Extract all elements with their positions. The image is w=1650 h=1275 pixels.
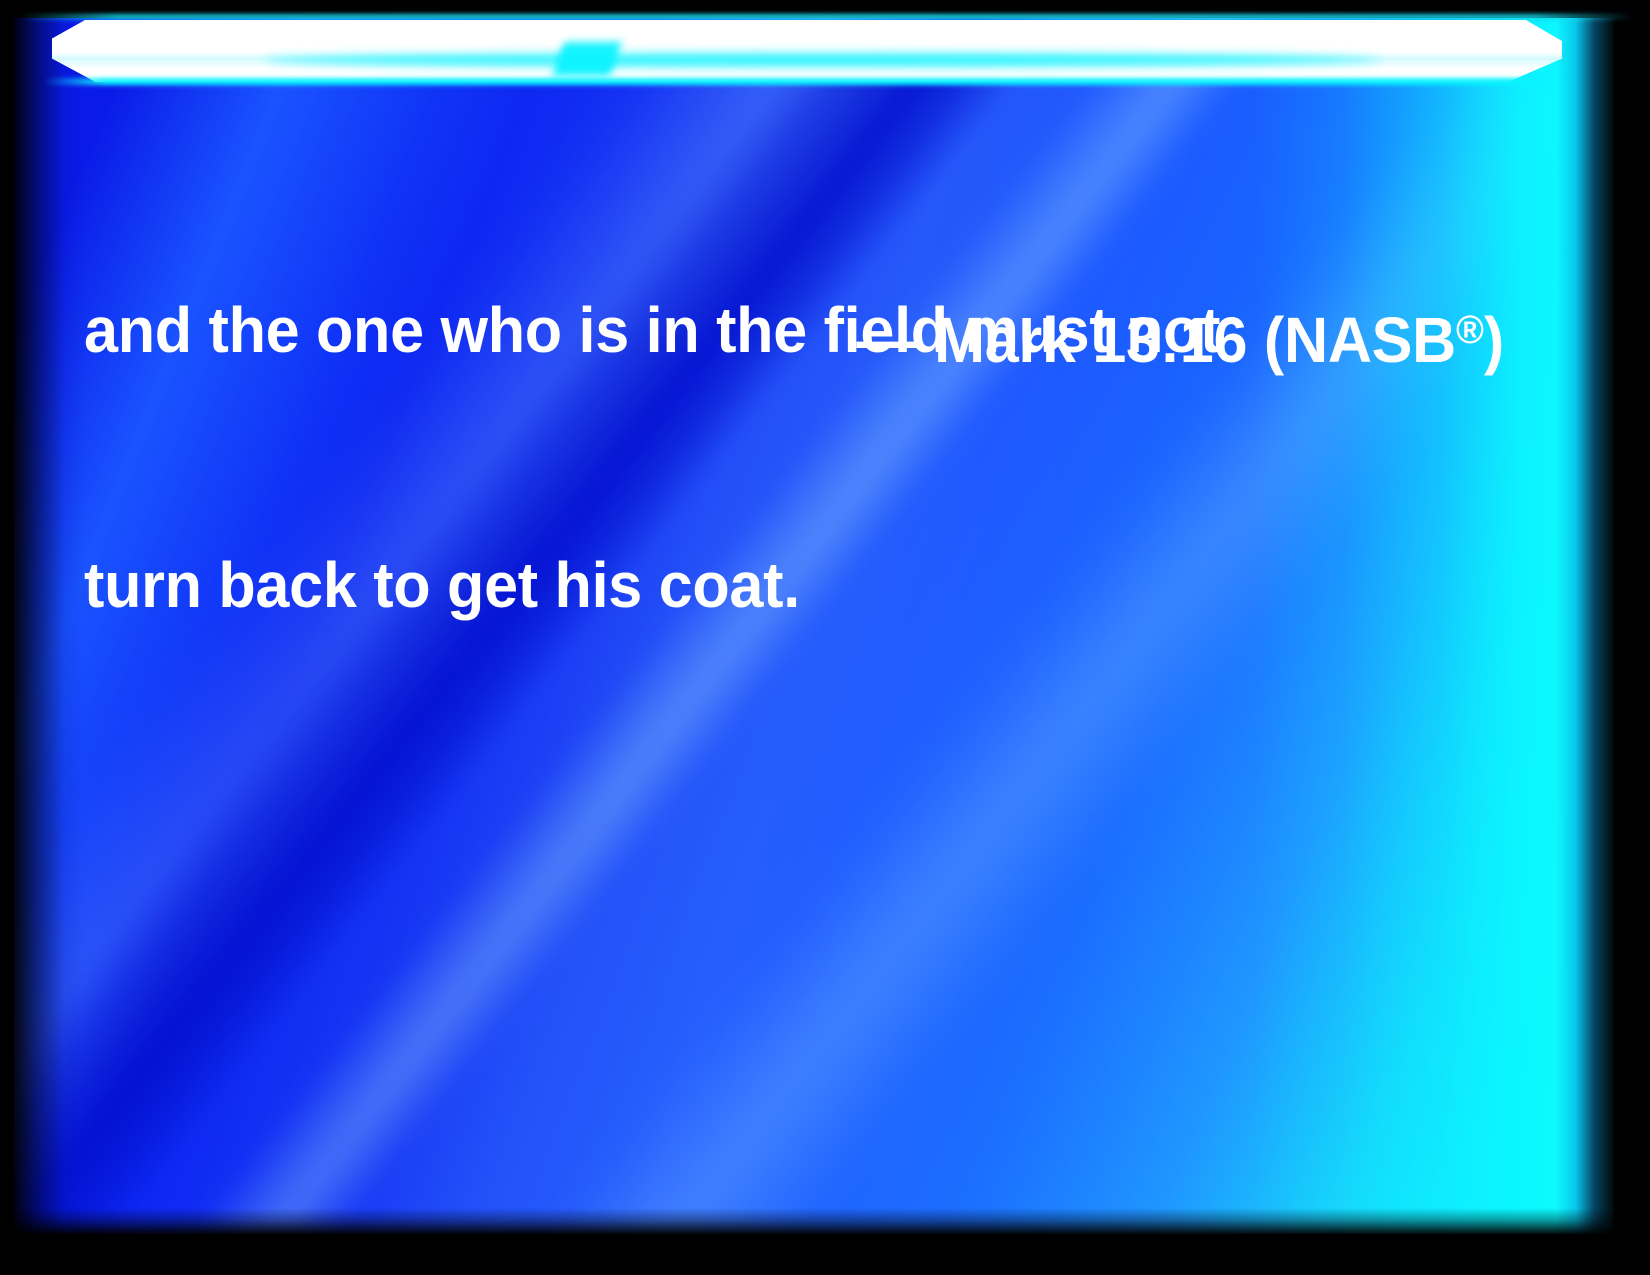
right-edge-shadow — [1556, 18, 1614, 1234]
verse-text: and the one who is in the field must not… — [84, 118, 1440, 798]
bottom-edge-shadow — [14, 1208, 1614, 1234]
glow-top-hairline — [20, 14, 1632, 20]
verse-line-2: turn back to get his coat. — [84, 543, 1440, 628]
glow-band-inner — [52, 20, 1562, 82]
attribution-suffix: ) — [1484, 304, 1504, 376]
verse-slide: and the one who is in the field must not… — [0, 0, 1650, 1275]
left-edge-shadow — [14, 18, 84, 1234]
glow-band-cyan-blob — [552, 42, 621, 76]
glow-band-underline — [44, 78, 1572, 85]
glow-band — [52, 20, 1562, 82]
attribution-prefix: — Mark 13:16 (NASB — [857, 304, 1456, 376]
registered-trademark-icon: ® — [1456, 308, 1484, 352]
verse-attribution: — Mark 13:16 (NASB®) — [148, 288, 1504, 383]
